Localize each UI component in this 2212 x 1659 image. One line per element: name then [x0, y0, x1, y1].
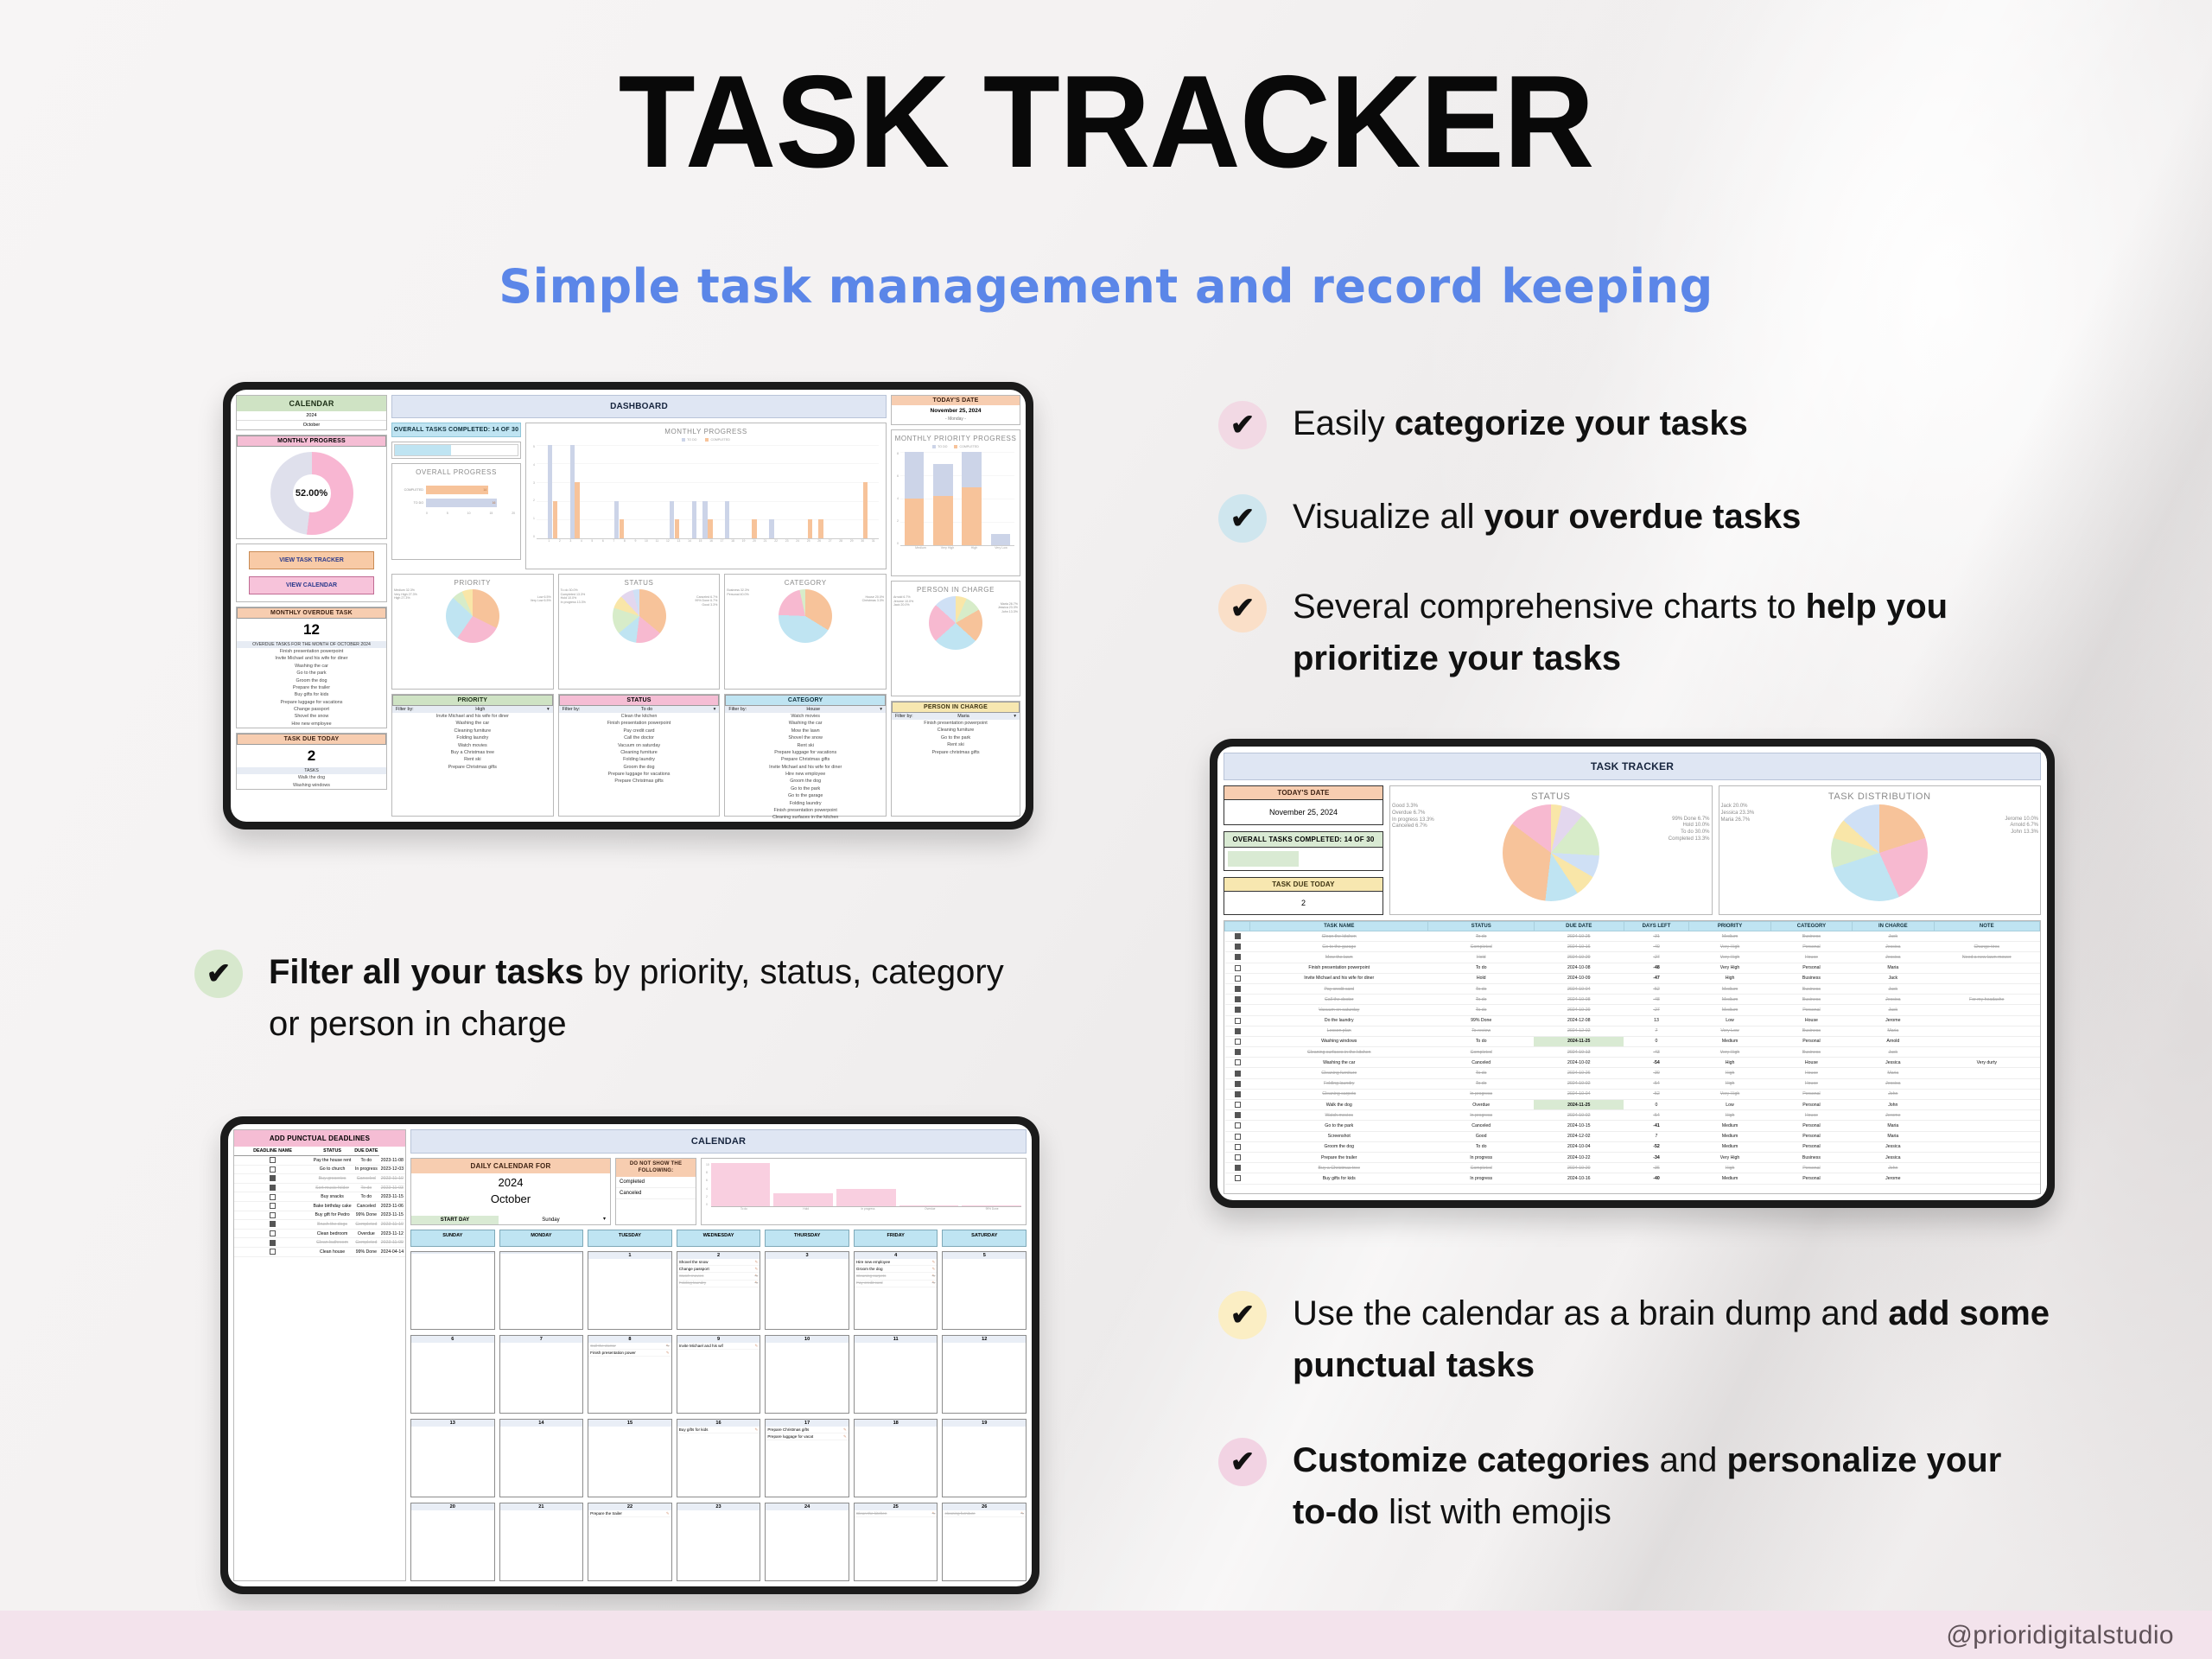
calendar-day-cell[interactable]: 17Prepare Christmas gifts✎Prepare luggag… — [765, 1419, 849, 1497]
table-cell: Jack — [1853, 1005, 1934, 1015]
done-checkbox[interactable] — [1235, 1018, 1241, 1024]
table-cell: Brush the dogs — [311, 1220, 353, 1230]
list-item: Prepare luggage for vacations — [725, 749, 886, 756]
table-row[interactable]: Bake birthday cakeCanceled2023-11-06 — [234, 1201, 405, 1211]
done-checkbox[interactable] — [270, 1166, 276, 1173]
table-cell: Maria — [1853, 963, 1934, 973]
status-filter[interactable]: Filter by: To do ▾ — [559, 706, 720, 713]
table-cell: 2024-04-14 — [379, 1247, 405, 1256]
calendar-event[interactable]: Clean the kitchen✎ — [855, 1510, 938, 1517]
table-row[interactable]: Cleaning surfaces in the kitchenComplete… — [1225, 1047, 2040, 1058]
done-checkbox[interactable] — [270, 1203, 276, 1209]
table-row[interactable]: Mow the lawnHold2024-10-29-27Very HighHo… — [1225, 952, 2040, 963]
calendar-event[interactable]: Invite Michael and his wif✎ — [677, 1343, 760, 1350]
person-filter[interactable]: Filter by: Maria ▾ — [892, 713, 1020, 720]
done-checkbox[interactable] — [1235, 1175, 1241, 1181]
calendar-day-cell[interactable]: 1 — [588, 1251, 672, 1330]
table-cell: 7 — [1624, 1131, 1689, 1141]
table-cell: Personal — [1770, 1173, 1852, 1184]
list-item: Folding laundry — [392, 734, 553, 741]
table-cell: 2024-12-08 — [1534, 1015, 1624, 1026]
table-cell: Bake birthday cake — [311, 1201, 353, 1211]
table-cell: Hold — [1428, 952, 1534, 963]
table-cell: -40 — [1624, 942, 1689, 952]
calendar-day-cell[interactable]: 15 — [588, 1419, 672, 1497]
table-row[interactable]: Brush the dogsCompleted2023-11-10 — [234, 1220, 405, 1230]
view-calendar-button[interactable]: VIEW CALENDAR — [249, 576, 374, 594]
calendar-event[interactable]: Folding laundry✎ — [677, 1281, 760, 1287]
day-number: 17 — [766, 1420, 849, 1427]
done-checkbox[interactable] — [1235, 1165, 1241, 1171]
bar — [773, 1193, 833, 1206]
table-cell: -43 — [1624, 1047, 1689, 1058]
table-cell — [1225, 1036, 1250, 1046]
calendar-day-cell[interactable]: 12 — [942, 1335, 1027, 1414]
done-checkbox[interactable] — [1235, 1007, 1241, 1013]
calendar-event[interactable]: Prepare luggage for vacat✎ — [766, 1433, 849, 1440]
calendar-month-select[interactable]: October — [411, 1192, 610, 1206]
table-row[interactable]: Sort music folderTo do2023-11-03 — [234, 1183, 405, 1192]
calendar-event[interactable]: Shovel the snow✎ — [677, 1259, 760, 1266]
pie-slice-label: To do 30.0% — [1669, 829, 1710, 836]
table-row[interactable]: Buy gift for Pedro99% Done2023-11-15 — [234, 1211, 405, 1220]
table-cell: Clean the kitchen — [1250, 931, 1428, 942]
table-row[interactable]: Groom the dogTo do2024-10-04-52MediumPer… — [1225, 1141, 2040, 1152]
chevron-down-icon[interactable]: ▾ — [603, 1216, 610, 1224]
legend-item: COMPLETED — [954, 445, 978, 448]
done-checkbox[interactable] — [1235, 1071, 1241, 1077]
table-cell: Business — [1770, 995, 1852, 1005]
table-row[interactable]: Go to the garageCompleted2024-10-16-40Ve… — [1225, 942, 2040, 952]
table-cell: Invite Michael and his wife for diner — [1250, 973, 1428, 983]
pie-slice-label: Maria 26.7% — [1721, 817, 1755, 824]
table-cell: House — [1770, 1110, 1852, 1121]
table-cell: 2024-10-08 — [1534, 963, 1624, 973]
table-cell — [1225, 942, 1250, 952]
day-number: 15 — [588, 1420, 671, 1427]
table-row[interactable]: Washing the carCanceled2024-10-02-54High… — [1225, 1058, 2040, 1068]
day-number: 6 — [411, 1336, 494, 1343]
task-table: TASK NAMESTATUSDUE DATEDAYS LEFTPRIORITY… — [1224, 920, 2041, 1194]
column-header: STATUS — [1428, 922, 1534, 931]
chevron-down-icon[interactable]: ▾ — [547, 707, 550, 712]
chevron-down-icon[interactable]: ▾ — [1014, 714, 1016, 719]
x-axis: MediumVery HighHighVery Low — [907, 546, 1014, 550]
calendar-event[interactable]: Pay credit card✎ — [855, 1281, 938, 1287]
done-checkbox[interactable] — [1235, 965, 1241, 971]
table-row[interactable]: Buy groceriesCanceled2023-11-10 — [234, 1174, 405, 1184]
table-cell: 2024-10-29 — [1534, 952, 1624, 963]
status-icon: ✎ — [843, 1434, 847, 1440]
table-cell: 2023-11-12 — [379, 1229, 405, 1238]
done-checkbox[interactable] — [270, 1185, 276, 1191]
table-row[interactable]: Cleaning carpetsIn progress2024-10-04-52… — [1225, 1089, 2040, 1099]
calendar-day-cell[interactable]: 19 — [942, 1419, 1027, 1497]
done-checkbox[interactable] — [1235, 996, 1241, 1002]
calendar-day-cell[interactable]: 7 — [499, 1335, 584, 1414]
calendar-day-cell[interactable]: 14 — [499, 1419, 584, 1497]
table-cell: Business — [1770, 1026, 1852, 1036]
done-checkbox[interactable] — [1235, 944, 1241, 950]
table-cell: 2024-10-16 — [1534, 1173, 1624, 1184]
table-cell: Buy snacks — [311, 1192, 353, 1202]
list-item: Rent ski — [892, 741, 1020, 748]
table-cell — [1225, 1163, 1250, 1173]
calendar-event[interactable]: Change passport✎ — [677, 1266, 760, 1273]
check-icon: ✔ — [194, 950, 243, 998]
table-row[interactable]: Do the laundry99% Done2024-12-0813LowHou… — [1225, 1015, 2040, 1026]
pie-slice-label: Jessica 23.3% — [1721, 810, 1755, 817]
calendar-event[interactable]: Cleaning carpets✎ — [855, 1273, 938, 1280]
table-cell: House — [1770, 952, 1852, 963]
table-cell: -52 — [1624, 983, 1689, 994]
table-cell: High — [1689, 973, 1770, 983]
bar — [905, 499, 925, 545]
calendar-day-cell[interactable]: 4Hire new employee✎Groom the dog✎Cleanin… — [854, 1251, 938, 1330]
day-number: 21 — [500, 1503, 583, 1510]
done-checkbox[interactable] — [270, 1175, 276, 1181]
list-item: Clean the kitchen — [559, 713, 720, 720]
calendar-event[interactable]: cleaning furniture✎ — [943, 1510, 1026, 1517]
done-checkbox[interactable] — [1235, 954, 1241, 960]
weekday-header: SATURDAY — [942, 1230, 1027, 1247]
done-checkbox[interactable] — [1235, 1144, 1241, 1150]
done-checkbox[interactable] — [270, 1230, 276, 1236]
status-icon: ✎ — [932, 1267, 936, 1272]
table-cell: Jessica — [1853, 995, 1934, 1005]
list-item: Hire new employee — [725, 771, 886, 778]
table-row[interactable]: Vacuum on saturdayTo do2024-10-29-27Medi… — [1225, 1005, 2040, 1015]
calendar-day-cell[interactable]: 23 — [677, 1503, 761, 1581]
table-cell: Medium — [1689, 983, 1770, 994]
table-cell: In progress — [1428, 1152, 1534, 1162]
table-cell: Medium — [1689, 1141, 1770, 1152]
calendar-day-cell[interactable]: 16Buy gifts for kids✎ — [677, 1419, 761, 1497]
done-checkbox[interactable] — [1235, 1059, 1241, 1065]
feature-braindump: ✔Use the calendar as a brain dump and ad… — [1218, 1287, 2053, 1391]
overall-progress-chart: OVERALL PROGRESS COMPLETED14TO DO1605101… — [391, 463, 521, 560]
calendar-event[interactable]: Prepare Christmas gifts✎ — [766, 1427, 849, 1433]
legend-swatch — [682, 438, 685, 442]
calendar-status-bar-chart: 1086420To doHoldIn progressOverdue99% Do… — [701, 1158, 1027, 1225]
done-checkbox[interactable] — [1235, 1112, 1241, 1118]
calendar-day-cell[interactable]: 26cleaning furniture✎ — [942, 1503, 1027, 1581]
calendar-day-cell[interactable]: 8Call the doctor✎Finish presentation pow… — [588, 1335, 672, 1414]
table-cell: Medium — [1689, 1005, 1770, 1015]
calendar-day-cell[interactable]: 18 — [854, 1419, 938, 1497]
day-number: 23 — [677, 1503, 760, 1510]
calendar-event[interactable]: Watch movies✎ — [677, 1273, 760, 1280]
bar — [818, 519, 823, 538]
do-not-show-item[interactable]: Completed — [616, 1177, 696, 1188]
status-icon: ✎ — [666, 1351, 670, 1356]
table-cell: John — [1853, 1100, 1934, 1110]
list-item: Hire new employee — [237, 721, 386, 728]
status-filter-card: STATUS Filter by: To do ▾ Clean the kitc… — [558, 694, 721, 817]
table-cell — [234, 1156, 311, 1166]
table-cell: Change tires — [1934, 942, 2039, 952]
day-number: 25 — [855, 1503, 938, 1510]
done-checkbox[interactable] — [1235, 1049, 1241, 1055]
category-task-list: Watch moviesWashing the carMow the lawnS… — [725, 713, 886, 822]
table-cell: Medium — [1689, 1121, 1770, 1131]
table-cell: Jessica — [1853, 1058, 1934, 1068]
table-cell: 2024-10-02 — [1534, 1058, 1624, 1068]
table-cell: To do — [1428, 963, 1534, 973]
table-cell: In progress — [1428, 1110, 1534, 1121]
calendar-day-cell[interactable]: 21 — [499, 1503, 584, 1581]
table-cell — [1934, 1015, 2039, 1026]
done-checkbox[interactable] — [1235, 1028, 1241, 1034]
footer-band — [0, 1611, 2212, 1659]
done-checkbox[interactable] — [270, 1212, 276, 1218]
calendar-event[interactable]: Finish presentation power✎ — [588, 1350, 671, 1357]
list-item: Finish presentation powerpoint — [559, 720, 720, 727]
table-row[interactable]: Buy gifts for kidsIn progress2024-10-16-… — [1225, 1173, 2040, 1184]
calendar-event[interactable]: Call the doctor✎ — [588, 1343, 671, 1350]
table-cell — [1934, 1173, 2039, 1184]
bar — [614, 501, 619, 538]
table-row[interactable]: Clean bedroomOverdue2023-11-12 — [234, 1229, 405, 1238]
table-cell: 2024-10-09 — [1534, 973, 1624, 983]
table-cell: To do — [1428, 1005, 1534, 1015]
calendar-day-cell[interactable]: 25Clean the kitchen✎ — [854, 1503, 938, 1581]
status-icon: ✎ — [754, 1274, 758, 1279]
calendar-day-cell[interactable]: 10 — [765, 1335, 849, 1414]
table-cell: High — [1689, 1068, 1770, 1078]
table-cell: 2024-10-02 — [1534, 1110, 1624, 1121]
day-number: 5 — [943, 1252, 1026, 1259]
table-row[interactable]: Pay the house rentTo do2023-11-08 — [234, 1156, 405, 1166]
table-cell — [1225, 1015, 1250, 1026]
feature-overdue: ✔Visualize all your overdue tasks — [1218, 491, 1801, 543]
list-item: Prepare Christmas gifts — [392, 764, 553, 771]
table-cell: House — [1770, 1068, 1852, 1078]
calendar-event[interactable]: Buy gifts for kids✎ — [677, 1427, 760, 1433]
table-cell — [234, 1192, 311, 1202]
view-task-tracker-button[interactable]: VIEW TASK TRACKER — [249, 551, 374, 569]
table-cell: 0 — [1624, 1100, 1689, 1110]
table-cell: -47 — [1624, 973, 1689, 983]
table-row[interactable]: Buy snacksTo do2023-11-15 — [234, 1192, 405, 1202]
chevron-down-icon[interactable]: ▾ — [714, 707, 716, 712]
table-row[interactable]: Washing windowsTo do2024-11-250MediumPer… — [1225, 1036, 2040, 1046]
pie-slice-label: Business 32.3% — [727, 588, 749, 593]
table-cell: 2023-11-08 — [379, 1156, 405, 1166]
check-icon: ✔ — [1218, 584, 1267, 632]
done-checkbox[interactable] — [1235, 1091, 1241, 1097]
table-row[interactable]: Invite Michael and his wife for dinerHol… — [1225, 973, 2040, 983]
feature-categorize: ✔Easily categorize your tasks — [1218, 397, 1748, 449]
done-checkbox[interactable] — [1235, 1081, 1241, 1087]
table-cell — [234, 1238, 311, 1248]
done-checkbox[interactable] — [270, 1194, 276, 1200]
list-item: Vacuum on saturday — [559, 742, 720, 749]
table-cell — [1225, 1026, 1250, 1036]
table-cell: Very High — [1689, 1089, 1770, 1099]
table-cell: 2024-10-16 — [1534, 942, 1624, 952]
done-checkbox[interactable] — [1235, 976, 1241, 982]
chevron-down-icon[interactable]: ▾ — [880, 707, 882, 712]
table-cell — [1934, 1131, 2039, 1141]
table-row[interactable]: Clean the kitchenTo do2024-10-25-31Mediu… — [1225, 931, 2040, 942]
table-cell: Walk the dog — [1250, 1100, 1428, 1110]
list-item: Washing the car — [392, 720, 553, 727]
column-header: DUE DATE — [353, 1147, 379, 1156]
day-number: 10 — [766, 1336, 849, 1343]
table-cell: To do — [1428, 983, 1534, 994]
table-cell: Business — [1770, 983, 1852, 994]
calendar-event[interactable]: Groom the dog✎ — [855, 1266, 938, 1273]
table-row[interactable]: Go to the parkCanceled2024-10-15-41Mediu… — [1225, 1121, 2040, 1131]
table-cell — [1225, 1058, 1250, 1068]
table-row[interactable]: Prepare the trailerIn progress2024-10-22… — [1225, 1152, 2040, 1162]
table-cell — [1225, 1131, 1250, 1141]
table-row[interactable]: Go to churchIn progress2023-12-03 — [234, 1165, 405, 1174]
table-cell: 2024-10-29 — [1534, 1005, 1624, 1015]
calendar-year[interactable]: 2024 — [411, 1173, 610, 1192]
list-item: Watch movies — [725, 713, 886, 720]
table-cell: Personal — [1770, 1036, 1852, 1046]
calendar-day-cell[interactable]: 24 — [765, 1503, 849, 1581]
bar — [708, 519, 712, 538]
calendar-day-cell[interactable]: 6 — [410, 1335, 495, 1414]
nav-buttons: VIEW TASK TRACKER VIEW CALENDAR — [236, 543, 387, 602]
calendar-day-cell[interactable]: 5 — [942, 1251, 1027, 1330]
table-cell: Medium — [1689, 995, 1770, 1005]
calendar-day-cell[interactable]: 3 — [765, 1251, 849, 1330]
table-cell: Very High — [1689, 952, 1770, 963]
list-item: Call the doctor — [559, 734, 720, 741]
status-icon: ✎ — [843, 1427, 847, 1433]
table-cell: House — [1770, 1058, 1852, 1068]
table-row[interactable]: ScreenshotGood2024-12-027MediumPersonalM… — [1225, 1131, 2040, 1141]
calendar-day-cell[interactable] — [499, 1251, 584, 1330]
table-cell — [234, 1220, 311, 1230]
day-number — [411, 1252, 494, 1254]
table-row[interactable]: Cleaning furnitureTo do2024-10-26-30High… — [1225, 1068, 2040, 1078]
table-cell: High — [1689, 1078, 1770, 1089]
table-cell: Clean house — [311, 1247, 353, 1256]
category-filter[interactable]: Filter by: House ▾ — [725, 706, 886, 713]
table-row[interactable]: Folding laundryTo do2024-10-02-54HighHou… — [1225, 1078, 2040, 1089]
month-select[interactable]: October — [237, 421, 386, 429]
table-cell: -52 — [1624, 1089, 1689, 1099]
calendar-day-cell[interactable]: 13 — [410, 1419, 495, 1497]
table-cell — [234, 1247, 311, 1256]
start-day-select[interactable]: Sunday — [499, 1216, 603, 1224]
pie-chart — [446, 589, 499, 643]
calendar-day-cell[interactable] — [410, 1251, 495, 1330]
feature-customize: ✔Customize categories and personalize yo… — [1218, 1434, 2053, 1538]
legend-swatch — [932, 445, 936, 448]
column-header: DUE DATE — [1534, 922, 1624, 931]
table-cell — [1934, 983, 2039, 994]
done-checkbox[interactable] — [270, 1240, 276, 1246]
day-number: 7 — [500, 1336, 583, 1343]
do-not-show-item[interactable]: Canceled — [616, 1188, 696, 1199]
list-item: Cleaning furniture — [392, 728, 553, 734]
table-cell: Need a new lawn mower — [1934, 952, 2039, 963]
priority-task-list: Invite Michael and his wife for dinerWas… — [392, 713, 553, 771]
calendar-day-cell[interactable]: 20 — [410, 1503, 495, 1581]
table-row[interactable]: Clean bathroomCompleted2023-11-09 — [234, 1238, 405, 1248]
table-cell: -27 — [1624, 952, 1689, 963]
table-row[interactable]: Finish presentation powerpointTo do2024-… — [1225, 963, 2040, 973]
daily-calendar-selector: DAILY CALENDAR FOR 2024 October START DA… — [410, 1158, 611, 1225]
table-cell: 99% Done — [353, 1247, 379, 1256]
calendar-day-cell[interactable]: 22Prepare the trailer✎ — [588, 1503, 672, 1581]
done-checkbox[interactable] — [270, 1249, 276, 1255]
table-cell — [1225, 1100, 1250, 1110]
bar — [575, 482, 579, 538]
done-checkbox[interactable] — [1235, 1102, 1241, 1108]
column-header: PRIORITY — [1689, 922, 1770, 931]
table-cell: 2023-11-03 — [379, 1183, 405, 1192]
overall-progress-bar — [394, 444, 518, 456]
table-cell: 2024-10-13 — [1534, 1047, 1624, 1058]
done-checkbox[interactable] — [1235, 1122, 1241, 1128]
legend-swatch — [954, 445, 957, 448]
table-row[interactable]: Call the doctorTo do2024-10-08-48MediumB… — [1225, 995, 2040, 1005]
bar — [702, 501, 707, 538]
table-row[interactable]: Pay credit cardTo do2024-10-04-52MediumB… — [1225, 983, 2040, 994]
table-cell: Medium — [1689, 1173, 1770, 1184]
done-checkbox[interactable] — [1235, 986, 1241, 992]
table-cell — [234, 1165, 311, 1174]
table-cell: Canceled — [1428, 1058, 1534, 1068]
table-cell: Personal — [1770, 1100, 1852, 1110]
table-row[interactable]: Buy a Christmas treeCompleted2024-10-20-… — [1225, 1163, 2040, 1173]
done-checkbox[interactable] — [270, 1221, 276, 1227]
column-header: NOTE — [1934, 922, 2039, 931]
table-cell: Jack — [1853, 1047, 1934, 1058]
done-checkbox[interactable] — [270, 1157, 276, 1163]
table-cell: Canceled — [353, 1201, 379, 1211]
calendar-event[interactable]: Prepare the trailer✎ — [588, 1510, 671, 1517]
status-icon: ✎ — [932, 1511, 936, 1516]
done-checkbox[interactable] — [1235, 1039, 1241, 1045]
feature-charts: ✔Several comprehensive charts to help yo… — [1218, 581, 2053, 684]
table-cell: Buy gift for Pedro — [311, 1211, 353, 1220]
done-checkbox[interactable] — [1235, 1154, 1241, 1160]
table-row[interactable]: Lesson planTo review2024-12-027Very LowB… — [1225, 1026, 2040, 1036]
calendar-day-cell[interactable]: 9Invite Michael and his wif✎ — [677, 1335, 761, 1414]
status-icon: ✎ — [932, 1260, 936, 1265]
table-cell: 2024-10-26 — [1534, 1068, 1624, 1078]
calendar-day-cell[interactable]: 2Shovel the snow✎Change passport✎Watch m… — [677, 1251, 761, 1330]
priority-pie-chart: PRIORITYMedium 32.3%Very High 27.3%High … — [391, 574, 554, 690]
done-checkbox[interactable] — [1235, 933, 1241, 939]
calendar-day-cell[interactable]: 11 — [854, 1335, 938, 1414]
table-cell: Personal — [1770, 1141, 1852, 1152]
table-cell: High — [1689, 1163, 1770, 1173]
table-cell: Go to the garage — [1250, 942, 1428, 952]
table-row[interactable]: Clean house99% Done2024-04-14 — [234, 1247, 405, 1256]
list-item: Pay credit card — [559, 728, 720, 734]
pie-slice-label: Good 3.3% — [1392, 804, 1434, 810]
table-cell: John — [1853, 1089, 1934, 1099]
table-row[interactable]: Walk the dogOverdue2024-11-250LowPersona… — [1225, 1100, 2040, 1110]
priority-filter[interactable]: Filter by: High ▾ — [392, 706, 553, 713]
list-item: Groom the dog — [237, 677, 386, 684]
day-number: 14 — [500, 1420, 583, 1427]
pie-slice-label: High 27.3% — [394, 596, 417, 601]
column-header: DEADLINE NAME — [234, 1147, 311, 1156]
done-checkbox[interactable] — [1235, 1134, 1241, 1140]
table-row[interactable]: Watch moviesIn progress2024-10-02-54High… — [1225, 1110, 2040, 1121]
calendar-event[interactable]: Hire new employee✎ — [855, 1259, 938, 1266]
